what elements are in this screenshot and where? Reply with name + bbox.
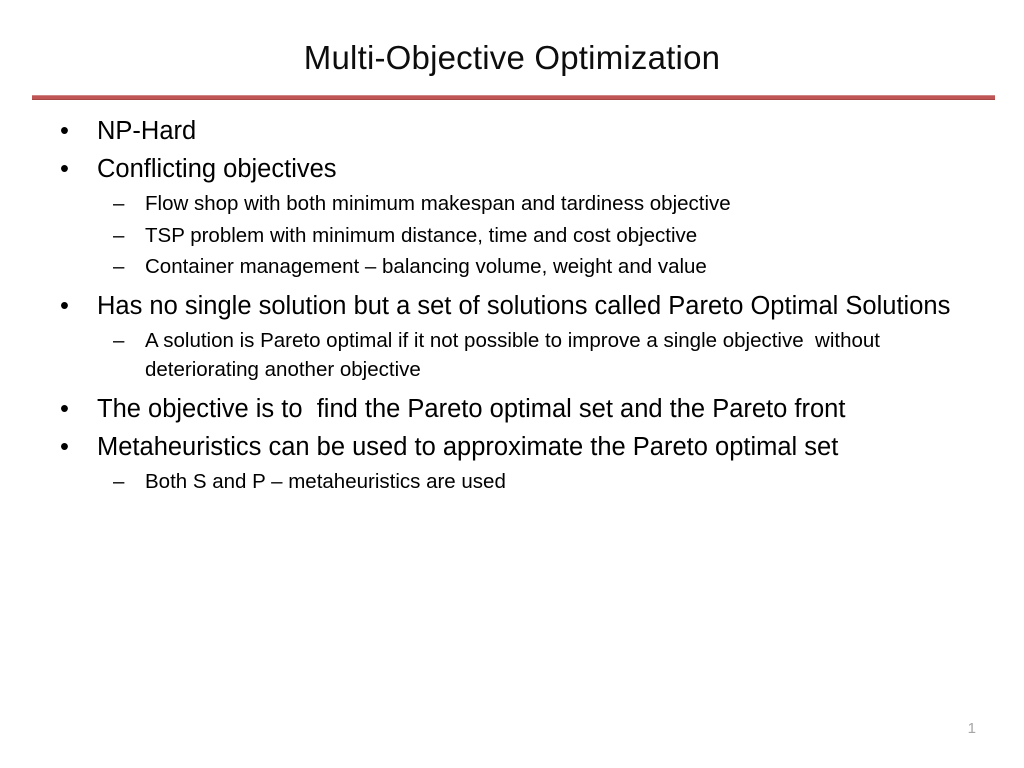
bullet-dash-icon: – xyxy=(113,326,135,356)
bullet-item: •Conflicting objectives xyxy=(0,151,1024,188)
bullet-dot-icon: • xyxy=(60,151,80,188)
slide: Multi-Objective Optimization •NP-Hard•Co… xyxy=(0,0,1024,768)
sub-bullet-item: –TSP problem with minimum distance, time… xyxy=(0,221,1024,251)
bullet-text: Metaheuristics can be used to approximat… xyxy=(97,429,962,466)
bullet-text: TSP problem with minimum distance, time … xyxy=(145,221,934,251)
bullet-dash-icon: – xyxy=(113,252,135,282)
bullet-dot-icon: • xyxy=(60,429,80,466)
sub-bullet-item: –Container management – balancing volume… xyxy=(0,252,1024,282)
bullet-text: Flow shop with both minimum makespan and… xyxy=(145,189,934,219)
bullet-text: A solution is Pareto optimal if it not p… xyxy=(145,326,934,385)
bullet-dash-icon: – xyxy=(113,221,135,251)
bullet-text: Container management – balancing volume,… xyxy=(145,252,934,282)
bullet-item: •Has no single solution but a set of sol… xyxy=(0,288,1024,325)
bullet-dash-icon: – xyxy=(113,189,135,219)
bullet-item: •NP-Hard xyxy=(0,113,1024,150)
bullet-item: •Metaheuristics can be used to approxima… xyxy=(0,429,1024,466)
sub-bullet-item: –A solution is Pareto optimal if it not … xyxy=(0,326,1024,385)
bullet-dot-icon: • xyxy=(60,391,80,428)
bullet-list: •NP-Hard•Conflicting objectives–Flow sho… xyxy=(0,113,1024,498)
sub-bullet-item: –Flow shop with both minimum makespan an… xyxy=(0,189,1024,219)
sub-bullet-item: –Both S and P – metaheuristics are used xyxy=(0,467,1024,497)
bullet-item: •The objective is to find the Pareto opt… xyxy=(0,391,1024,428)
title-divider-rule xyxy=(32,95,995,100)
bullet-text: Has no single solution but a set of solu… xyxy=(97,288,962,325)
page-title: Multi-Objective Optimization xyxy=(0,38,1024,78)
title-area: Multi-Objective Optimization xyxy=(0,38,1024,78)
bullet-dot-icon: • xyxy=(60,113,80,150)
bullet-dash-icon: – xyxy=(113,467,135,497)
page-number: 1 xyxy=(968,720,976,738)
bullet-dot-icon: • xyxy=(60,288,80,325)
bullet-text: NP-Hard xyxy=(97,113,962,150)
bullet-text: The objective is to find the Pareto opti… xyxy=(97,391,962,428)
bullet-text: Both S and P – metaheuristics are used xyxy=(145,467,934,497)
bullet-text: Conflicting objectives xyxy=(97,151,962,188)
